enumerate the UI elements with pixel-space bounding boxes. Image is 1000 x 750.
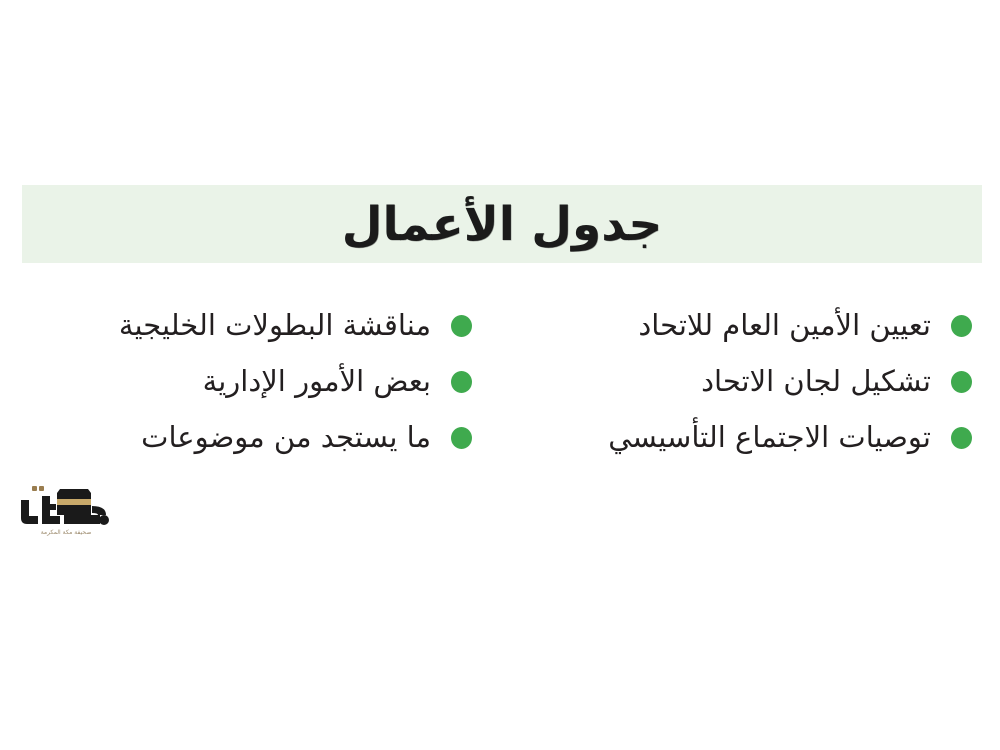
agenda-columns: تعيين الأمين العام للاتحاد تشكيل لجان ال… <box>0 298 1000 473</box>
list-item: ما يستجد من موضوعات <box>0 410 500 466</box>
page-title: جدول الأعمال <box>22 185 982 263</box>
list-item: مناقشة البطولات الخليجية <box>0 298 500 354</box>
bullet-dot-icon <box>451 371 472 393</box>
agenda-column-left: مناقشة البطولات الخليجية بعض الأمور الإد… <box>0 298 500 473</box>
title-band: جدول الأعمال <box>22 185 982 263</box>
list-item: بعض الأمور الإدارية <box>0 354 500 410</box>
logo-tagline: صحيفة مكة المكرمة <box>19 529 113 537</box>
agenda-item-label: بعض الأمور الإدارية <box>50 366 431 398</box>
agenda-column-right: تعيين الأمين العام للاتحاد تشكيل لجان ال… <box>500 298 1000 473</box>
bullet-dot-icon <box>451 315 472 337</box>
list-item: تشكيل لجان الاتحاد <box>500 354 1000 410</box>
makkah-logo-icon <box>16 484 116 532</box>
bullet-dot-icon <box>451 427 472 449</box>
agenda-item-label: مناقشة البطولات الخليجية <box>50 310 431 342</box>
agenda-item-label: توصيات الاجتماع التأسيسي <box>552 422 931 454</box>
list-item: تعيين الأمين العام للاتحاد <box>500 298 1000 354</box>
agenda-item-label: تعيين الأمين العام للاتحاد <box>552 310 931 342</box>
makkah-logo: صحيفة مكة المكرمة <box>16 484 116 544</box>
bullet-dot-icon <box>951 371 972 393</box>
agenda-item-label: تشكيل لجان الاتحاد <box>552 366 931 398</box>
bullet-dot-icon <box>951 315 972 337</box>
agenda-slide: جدول الأعمال تعيين الأمين العام للاتحاد … <box>0 0 1000 750</box>
list-item: توصيات الاجتماع التأسيسي <box>500 410 1000 466</box>
agenda-item-label: ما يستجد من موضوعات <box>50 422 431 454</box>
bullet-dot-icon <box>951 427 972 449</box>
